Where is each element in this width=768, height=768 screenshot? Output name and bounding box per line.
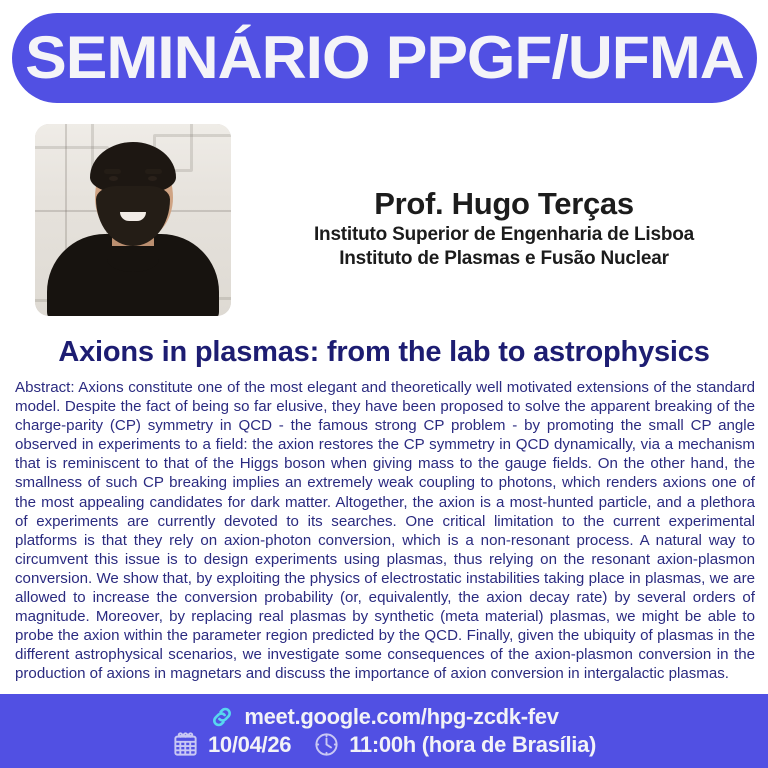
page-title: SEMINÁRIO PPGF/UFMA: [25, 28, 744, 88]
footer-meeting-row: meet.google.com/hpg-zcdk-fev: [209, 704, 558, 730]
photo-eye: [109, 176, 118, 181]
photo-collar: [107, 246, 159, 272]
link-icon: [209, 704, 235, 730]
speaker-affiliation-line-1: Instituto Superior de Engenharia de Lisb…: [250, 223, 758, 247]
meeting-link[interactable]: meet.google.com/hpg-zcdk-fev: [244, 704, 558, 730]
event-time: 11:00h (hora de Brasília): [349, 732, 596, 758]
clock-icon: [313, 731, 340, 758]
footer-bar: meet.google.com/hpg-zcdk-fev 10/04/26: [0, 694, 768, 768]
photo-eye: [148, 176, 157, 181]
speaker-info: Prof. Hugo Terças Instituto Superior de …: [250, 186, 758, 271]
calendar-icon: [172, 731, 199, 758]
header-banner: SEMINÁRIO PPGF/UFMA: [12, 13, 757, 103]
speaker-name: Prof. Hugo Terças: [250, 186, 758, 223]
photo-eyebrow: [104, 169, 121, 174]
speaker-affiliation-line-2: Instituto de Plasmas e Fusão Nuclear: [250, 247, 758, 271]
event-date: 10/04/26: [208, 732, 291, 758]
photo-eyebrow: [145, 169, 162, 174]
speaker-photo: [35, 124, 231, 316]
abstract-text: Abstract: Axions constitute one of the m…: [15, 378, 755, 684]
footer-datetime-row: 10/04/26 11:00h (hora de Brasília): [172, 731, 596, 758]
talk-title: Axions in plasmas: from the lab to astro…: [0, 336, 768, 369]
